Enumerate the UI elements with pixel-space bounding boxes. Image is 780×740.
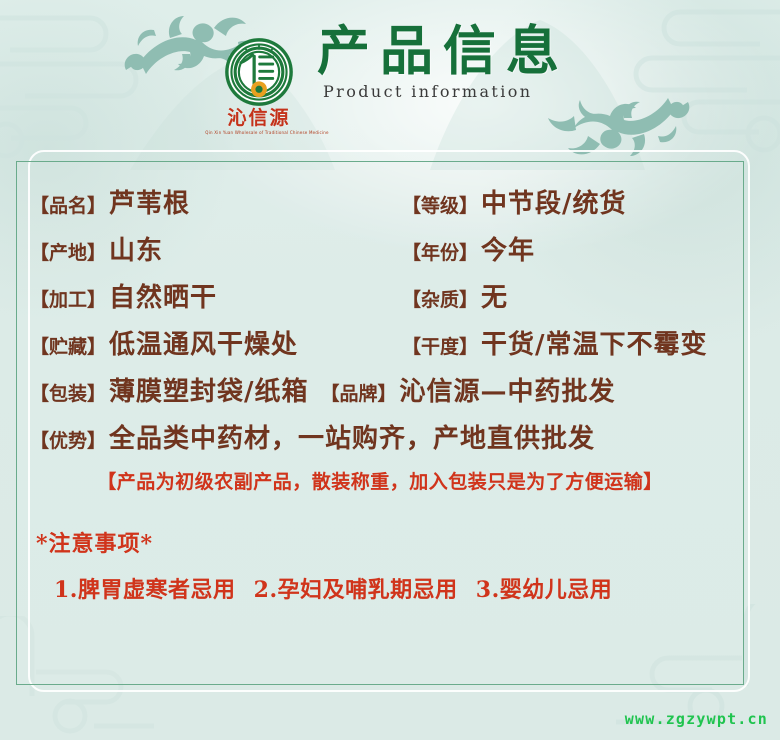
spec-value: 干货/常温下不霉变: [481, 324, 708, 361]
header-title-block: 产品信息 Product information: [317, 22, 569, 101]
site-watermark: www.zgzywpt.cn: [625, 710, 768, 728]
spec-value: 全品类中药材，一站购齐，产地直供批发: [109, 424, 595, 454]
spec-value: 低温通风干燥处: [109, 324, 298, 361]
spec-cell: 【产地】 山东: [30, 230, 402, 267]
spec-row: 【品名】 芦苇根 【等级】 中节段/统货: [30, 183, 730, 220]
product-notice: 【产品为初级农副产品，散装称重，加入包装只是为了方便运输】: [30, 467, 730, 494]
spec-label: 【加工】: [30, 285, 106, 312]
spec-label: 【品牌】: [321, 383, 397, 405]
caution-item: 1.脾胃虚寒者忌用: [54, 577, 235, 603]
spec-row: 【贮藏】 低温通风干燥处 【干度】 干货/常温下不霉变: [30, 324, 730, 361]
caution-item: 3.婴幼儿忌用: [476, 577, 612, 603]
spec-cell: 【品名】 芦苇根: [30, 183, 402, 220]
caution-heading: *注意事项*: [36, 526, 730, 558]
spec-cell: 【等级】 中节段/统货: [402, 183, 627, 220]
spec-row-advantage: 【优势】全品类中药材，一站购齐，产地直供批发: [30, 418, 730, 455]
spec-value: 山东: [109, 230, 163, 267]
spec-label: 【包装】: [30, 383, 106, 405]
page-title: 产品信息: [317, 24, 569, 80]
spec-label: 【贮藏】: [30, 332, 106, 359]
spec-value: 自然晒干: [109, 277, 217, 314]
caution-list: 1.脾胃虚寒者忌用 2.孕妇及哺乳期忌用 3.婴幼儿忌用: [54, 572, 730, 604]
caution-item: 2.孕妇及哺乳期忌用: [254, 577, 458, 603]
spec-cell: 【杂质】 无: [402, 277, 508, 314]
spec-cell: 【贮藏】 低温通风干燥处: [30, 324, 402, 361]
brand-wordmark: 沁信源: [211, 109, 307, 128]
spec-label: 【品名】: [30, 191, 106, 218]
brand-seal-icon: [223, 36, 295, 108]
spec-label: 【杂质】: [402, 285, 478, 312]
spec-row: 【包装】薄膜塑封袋/纸箱【品牌】沁信源—中药批发: [30, 371, 730, 408]
spec-value: 芦苇根: [109, 183, 190, 220]
spec-value: 沁信源—中药批发: [400, 377, 616, 407]
spec-value: 今年: [481, 230, 535, 267]
spec-cell: 【干度】 干货/常温下不霉变: [402, 324, 708, 361]
spec-value: 中节段/统货: [481, 183, 627, 220]
spec-cell: 【加工】 自然晒干: [30, 277, 402, 314]
spec-value: 薄膜塑封袋/纸箱: [109, 377, 309, 407]
product-info-page: 沁信源 Qin Xin Yuan Wholesale of Traditiona…: [0, 0, 780, 740]
spec-row: 【产地】 山东 【年份】 今年: [30, 230, 730, 267]
spec-label: 【干度】: [402, 332, 478, 359]
spec-cell: 【年份】 今年: [402, 230, 535, 267]
page-subtitle: Product information: [323, 82, 569, 101]
spec-value: 无: [481, 277, 508, 314]
spec-row: 【加工】 自然晒干 【杂质】 无: [30, 277, 730, 314]
page-header: 沁信源 Qin Xin Yuan Wholesale of Traditiona…: [0, 0, 780, 148]
spec-label: 【优势】: [30, 430, 106, 452]
brand-subtext: Qin Xin Yuan Wholesale of Traditional Ch…: [205, 131, 313, 135]
spec-label: 【等级】: [402, 191, 478, 218]
spec-label: 【年份】: [402, 238, 478, 265]
product-spec-panel: 【品名】 芦苇根 【等级】 中节段/统货 【产地】 山东 【年份】 今年 【加工…: [16, 161, 744, 685]
spec-label: 【产地】: [30, 238, 106, 265]
brand-logo: 沁信源 Qin Xin Yuan Wholesale of Traditiona…: [211, 36, 307, 135]
